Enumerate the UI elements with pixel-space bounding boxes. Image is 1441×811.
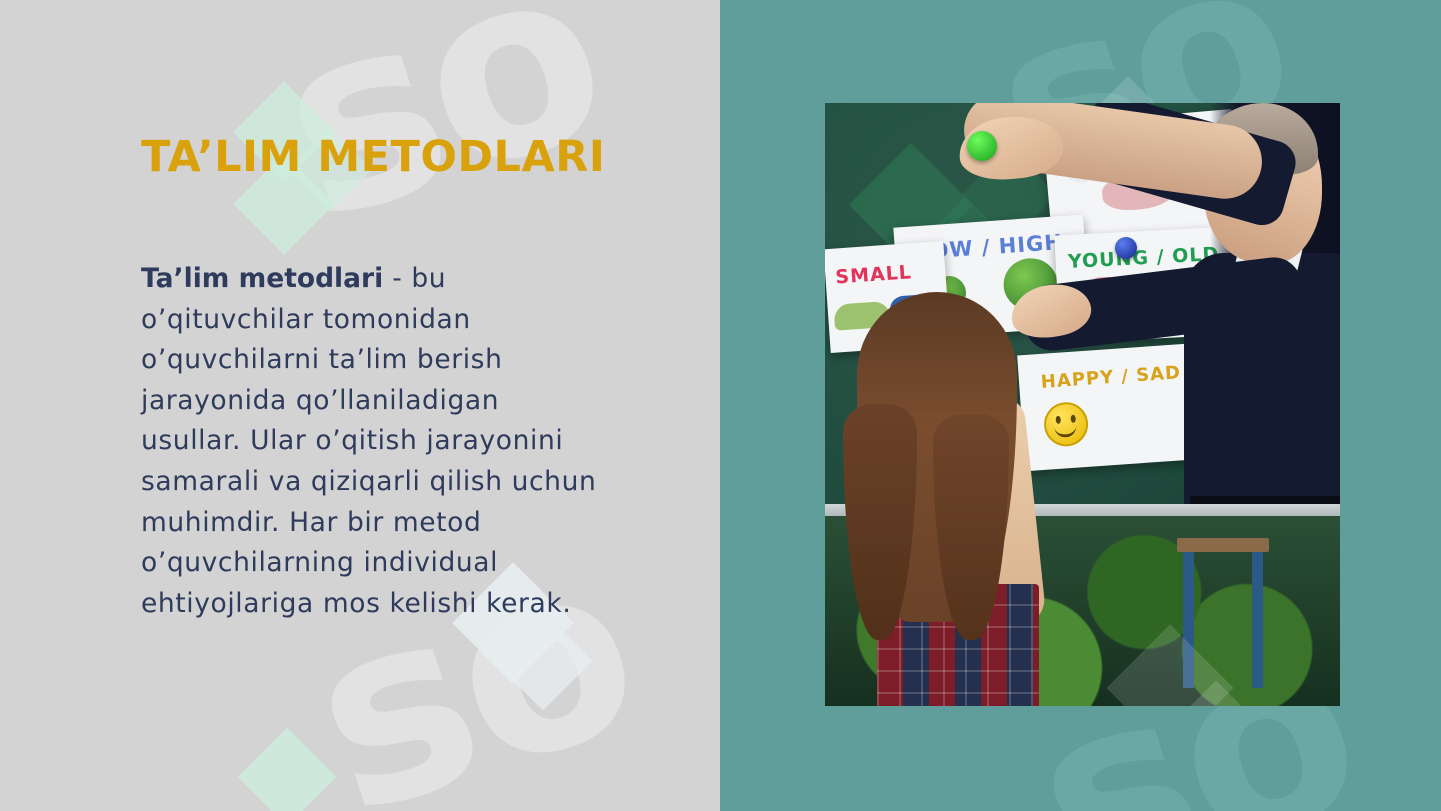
stool — [1177, 538, 1269, 688]
green-magnet-icon — [967, 131, 997, 161]
body-lead-term: Ta’lim metodlari — [141, 263, 383, 294]
pin-icon-2 — [1115, 237, 1137, 259]
body-paragraph: Ta’lim metodlari - bu o’qituvchilar tomo… — [141, 259, 601, 624]
classroom-photo: SLOW / FAST LOW / HIGH SMALL YOUNG / OLD… — [825, 103, 1340, 706]
stool-seat — [1177, 538, 1269, 552]
page-title: TA’LIM METODLARI — [141, 133, 611, 181]
flashcard-small-big-label: SMALL — [835, 261, 913, 288]
body-rest-text: - bu o’qituvchilar tomonidan o’quvchilar… — [141, 263, 596, 619]
student-girl — [837, 292, 1087, 706]
stool-leg-left — [1183, 552, 1194, 688]
slide-root: so so TA’LIM METODLARI Ta’lim metodlari … — [0, 0, 1441, 811]
stool-leg-right — [1252, 552, 1263, 688]
